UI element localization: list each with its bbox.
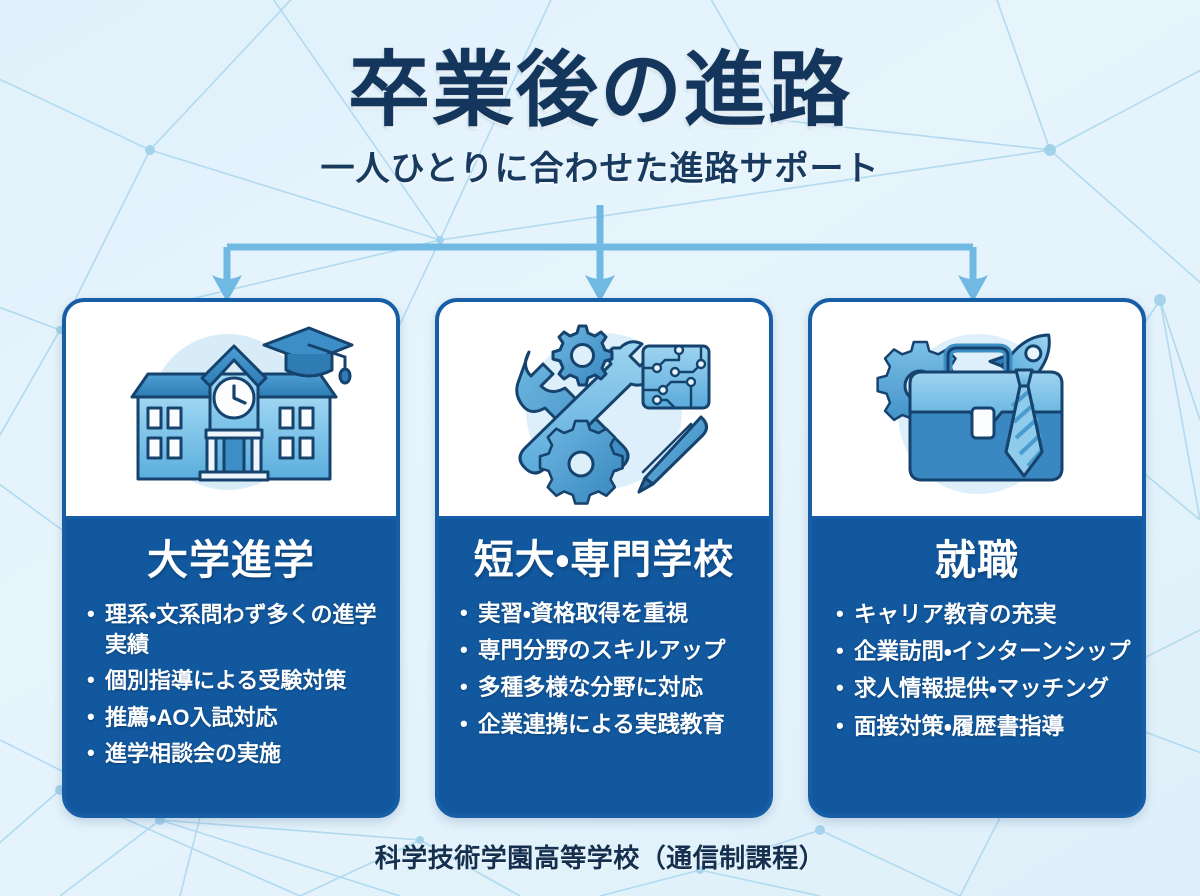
card-university-body: 大学進学 理系・文系問わず多くの進学実績 個別指導による受験対策 推薦・AO入試… [66, 519, 396, 814]
list-item: キャリア教育の充実 [834, 600, 1132, 630]
university-building-graduation-cap-icon [106, 312, 356, 507]
card-vocational[interactable]: 短大・専門学校 実習・資格取得を重視 専門分野のスキルアップ 多種多様な分野に対… [435, 298, 773, 818]
card-employment-bullets: キャリア教育の充実 企業訪問・インターンシップ 求人情報提供・マッチング 面接対… [822, 600, 1132, 749]
list-item: 実習・資格取得を重視 [458, 599, 756, 629]
footer-organization: 科学技術学園高等学校（通信制課程） [0, 838, 1200, 875]
list-item: 面接対策・履歴書指導 [834, 712, 1132, 742]
card-employment-body: 就職 キャリア教育の充実 企業訪問・インターンシップ 求人情報提供・マッチング … [812, 519, 1142, 814]
card-employment-title: 就職 [935, 537, 1019, 584]
card-university-icon-area [66, 302, 396, 519]
page-subtitle: 一人ひとりに合わせた進路サポート [0, 141, 1200, 190]
wrench-gear-circuit-pen-icon [487, 312, 722, 507]
list-item: 企業訪問・インターンシップ [834, 637, 1132, 667]
card-employment-icon-area [812, 302, 1142, 519]
card-vocational-title: 短大・専門学校 [474, 537, 735, 583]
list-item: 進学相談会の実施 [85, 739, 383, 768]
connector-arrows [0, 205, 1200, 305]
list-item: 個別指導による受験対策 [85, 666, 383, 695]
card-vocational-body: 短大・専門学校 実習・資格取得を重視 専門分野のスキルアップ 多種多様な分野に対… [439, 519, 769, 814]
page-title: 卒業後の進路 [0, 0, 1200, 133]
list-item: 企業連携による実践教育 [458, 710, 756, 740]
card-university-title: 大学進学 [147, 537, 315, 584]
list-item: 理系・文系問わず多くの進学実績 [85, 600, 383, 659]
list-item: 推薦・AO入試対応 [85, 703, 383, 732]
list-item: 専門分野のスキルアップ [458, 636, 756, 666]
list-item: 求人情報提供・マッチング [834, 674, 1132, 704]
briefcase-tie-gear-rocket-icon [852, 312, 1102, 507]
career-path-cards: 大学進学 理系・文系問わず多くの進学実績 個別指導による受験対策 推薦・AO入試… [0, 298, 1200, 818]
header: 卒業後の進路 一人ひとりに合わせた進路サポート [0, 0, 1200, 190]
card-vocational-icon-area [439, 302, 769, 519]
list-item: 多種多様な分野に対応 [458, 673, 756, 703]
card-employment[interactable]: 就職 キャリア教育の充実 企業訪問・インターンシップ 求人情報提供・マッチング … [808, 298, 1146, 818]
card-university[interactable]: 大学進学 理系・文系問わず多くの進学実績 個別指導による受験対策 推薦・AO入試… [62, 298, 400, 818]
infographic-root: 卒業後の進路 一人ひとりに合わせた進路サポート [0, 0, 1200, 896]
card-university-bullets: 理系・文系問わず多くの進学実績 個別指導による受験対策 推薦・AO入試対応 進学… [79, 600, 383, 775]
card-vocational-bullets: 実習・資格取得を重視 専門分野のスキルアップ 多種多様な分野に対応 企業連携によ… [452, 599, 756, 748]
